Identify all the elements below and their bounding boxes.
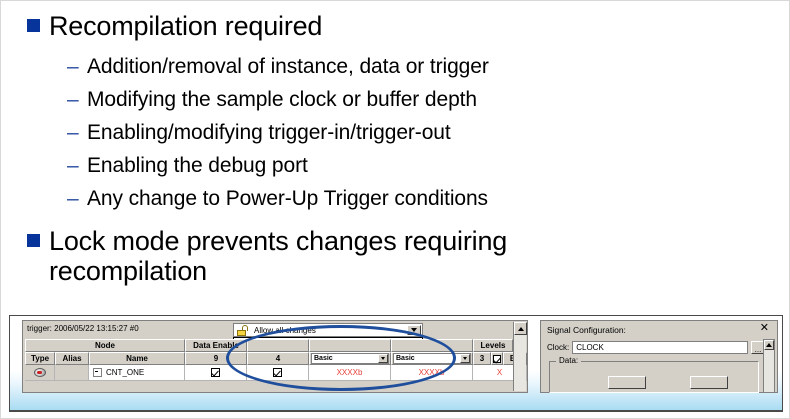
column-group-conditions-a[interactable] <box>309 339 391 352</box>
data-groupbox-label: Data: <box>556 356 581 365</box>
signal-configuration-panel: Signal Configuration: ✕ Clock: CLOCK ...… <box>540 320 778 393</box>
column-group-data-enable[interactable]: Data Enable <box>185 339 247 352</box>
dash-icon: – <box>67 88 78 112</box>
lock-mode-combo[interactable]: Allow all changes <box>233 323 423 337</box>
basic-combo-2-value: Basic <box>396 355 415 362</box>
node-signal-icon <box>34 368 46 377</box>
cell-type[interactable] <box>25 365 55 381</box>
clock-input[interactable]: CLOCK <box>572 341 748 354</box>
column-type[interactable]: Type <box>25 352 55 365</box>
bullet-text: Enabling/modifying trigger-in/trigger-ou… <box>87 121 451 145</box>
cell-condition-2[interactable]: XXXXb <box>391 365 473 381</box>
close-icon[interactable]: ✕ <box>760 323 769 334</box>
cell-data-enable[interactable] <box>185 365 247 381</box>
unlocked-padlock-icon <box>237 325 250 336</box>
column-basic-2[interactable]: Basic <box>391 352 473 365</box>
bullet-level2-addition-removal: – Addition/removal of instance, data or … <box>67 55 489 79</box>
slide-content: Recompilation required – Addition/remova… <box>1 1 790 311</box>
trigger-enable-checkbox[interactable] <box>273 368 282 377</box>
cell-trigger-enable[interactable] <box>247 365 309 381</box>
chevron-down-icon[interactable] <box>378 354 388 363</box>
basic-combo-1[interactable]: Basic <box>311 353 389 364</box>
cell-condition-1[interactable]: XXXXb <box>309 365 391 381</box>
column-name[interactable]: Name <box>89 352 185 365</box>
table-row[interactable]: CNT_ONE XXXXb XXXXb X <box>25 365 527 381</box>
grid-header-group-row: Node Data Enable Levels <box>25 339 513 352</box>
basic-combo-1-value: Basic <box>314 355 333 362</box>
signaltap-grid-panel: trigger: 2006/05/22 13:15:27 #0 Allow al… <box>22 320 528 393</box>
bullet-text: Enabling the debug port <box>87 154 308 178</box>
dash-icon: – <box>67 154 78 178</box>
bullet-text: Modifying the sample clock or buffer dep… <box>87 88 477 112</box>
data-groupbox: Data: <box>549 361 759 393</box>
data-add-button[interactable] <box>608 376 646 389</box>
column-trigger-enable-count[interactable]: 4 <box>247 352 309 365</box>
column-level-checkbox[interactable] <box>491 352 503 365</box>
signal-panel-vertical-scrollbar[interactable] <box>763 339 775 393</box>
bullet-level1-lock-mode: Lock mode prevents changes requiring rec… <box>27 226 647 286</box>
bullet-text: Addition/removal of instance, data or tr… <box>87 55 489 79</box>
column-alias[interactable]: Alias <box>55 352 89 365</box>
clock-label: Clock: <box>547 343 569 352</box>
cell-name[interactable]: CNT_ONE <box>89 365 185 381</box>
column-group-trigger-enable[interactable] <box>247 339 309 352</box>
bullet-text: Recompilation required <box>49 11 322 41</box>
column-group-conditions-b[interactable] <box>391 339 473 352</box>
column-basic-1[interactable]: Basic <box>309 352 391 365</box>
bullet-square-icon <box>27 234 40 247</box>
bullet-level2-power-up-trigger: – Any change to Power-Up Trigger conditi… <box>67 187 488 211</box>
bullet-level2-debug-port: – Enabling the debug port <box>67 154 308 178</box>
grid-header-row: Type Alias Name 9 4 Basic Basic <box>25 352 527 365</box>
scroll-up-icon[interactable] <box>764 340 774 350</box>
bullet-square-icon <box>27 19 40 32</box>
bullet-text: Any change to Power-Up Trigger condition… <box>87 187 488 211</box>
dash-icon: – <box>67 187 78 211</box>
slide-page: Recompilation required – Addition/remova… <box>0 0 790 419</box>
chevron-down-icon[interactable] <box>407 325 421 335</box>
cell-alias[interactable] <box>55 365 89 381</box>
data-enable-checkbox[interactable] <box>211 368 220 377</box>
bullet-level2-trigger-in-out: – Enabling/modifying trigger-in/trigger-… <box>67 121 451 145</box>
expand-node-icon[interactable] <box>93 368 102 377</box>
bullet-level1-recompilation: Recompilation required <box>27 11 322 41</box>
column-data-enable-count[interactable]: 9 <box>185 352 247 365</box>
grid-vertical-scrollbar[interactable] <box>513 322 526 391</box>
column-group-node[interactable]: Node <box>25 339 185 352</box>
basic-combo-2[interactable]: Basic <box>393 353 471 364</box>
dash-icon: – <box>67 55 78 79</box>
dash-icon: – <box>67 121 78 145</box>
scroll-up-icon[interactable] <box>514 322 527 335</box>
column-group-levels[interactable]: Levels <box>473 339 513 352</box>
trigger-status-label: trigger: 2006/05/22 13:15:27 #0 <box>27 324 139 333</box>
column-level-number[interactable]: 3 <box>473 352 491 365</box>
panel-title: Signal Configuration: <box>547 325 626 335</box>
embedded-screenshot: trigger: 2006/05/22 13:15:27 #0 Allow al… <box>9 315 783 412</box>
chevron-down-icon[interactable] <box>460 354 470 363</box>
data-remove-button[interactable] <box>690 376 728 389</box>
cell-name-label: CNT_ONE <box>106 368 144 377</box>
bullet-level2-sample-clock: – Modifying the sample clock or buffer d… <box>67 88 477 112</box>
clock-row: Clock: CLOCK ... <box>547 341 765 354</box>
level-checkbox[interactable] <box>493 355 501 363</box>
bullet-text: Lock mode prevents changes requiring rec… <box>49 226 639 286</box>
